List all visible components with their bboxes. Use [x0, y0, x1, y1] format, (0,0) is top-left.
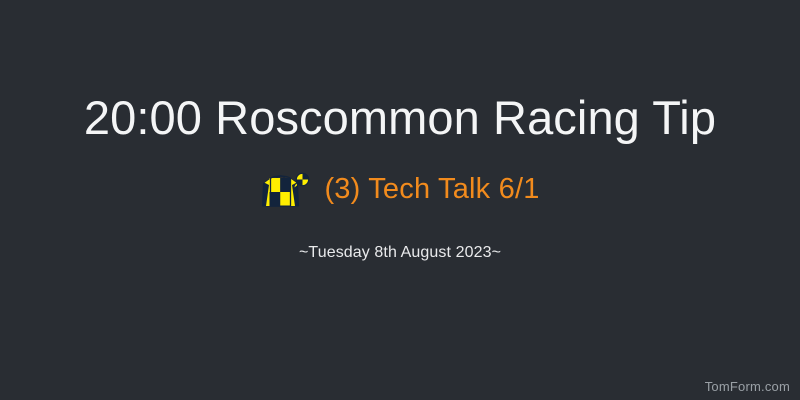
site-watermark: TomForm.com	[705, 380, 790, 393]
tip-selection-row: (3) Tech Talk 6/1	[260, 169, 539, 211]
tip-selection-text: (3) Tech Talk 6/1	[324, 175, 539, 204]
jockey-silk-icon	[260, 169, 312, 211]
page-title: 20:00 Roscommon Racing Tip	[84, 92, 716, 145]
race-date: ~Tuesday 8th August 2023~	[299, 245, 501, 261]
racing-tip-card: 20:00 Roscommon Racing Tip	[0, 0, 800, 400]
